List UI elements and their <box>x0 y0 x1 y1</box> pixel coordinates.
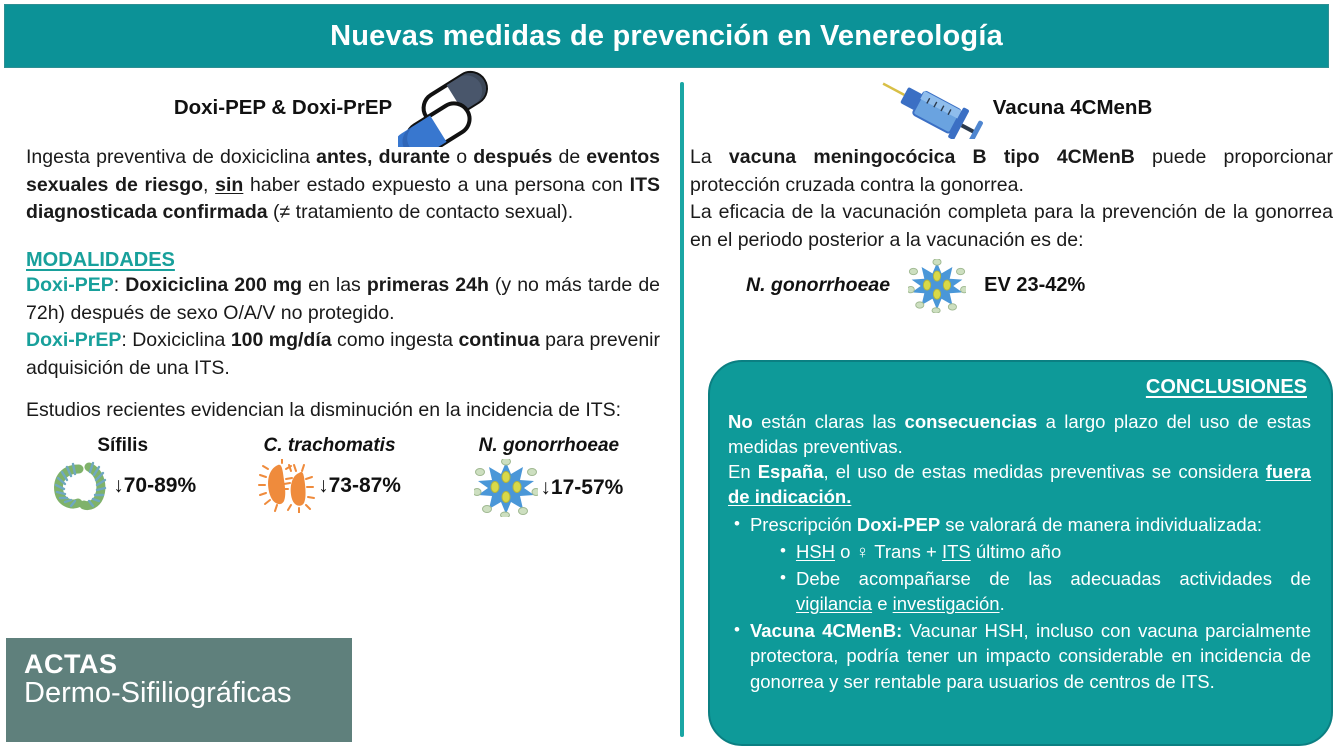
left-section-header: Doxi-PEP & Doxi-PrEP <box>0 72 676 144</box>
page-title: Nuevas medidas de prevención en Venereol… <box>330 20 1003 53</box>
pathogen-name: N. gonorrhoeae <box>479 435 619 457</box>
capsule-pills-icon <box>398 69 502 147</box>
left-section-title: Doxi-PEP & Doxi-PrEP <box>174 96 392 120</box>
right-column: Vacuna 4CMenB La vacuna meningocócica B … <box>690 72 1333 750</box>
pathogen-value: ↓17-57% <box>540 476 623 500</box>
right-section-header: Vacuna 4CMenB <box>690 72 1333 144</box>
right-body: La vacuna meningocócica B tipo 4CMenB pu… <box>690 144 1333 255</box>
syringe-icon <box>871 77 987 139</box>
pathogen-value: ↓73-87% <box>318 474 401 498</box>
pathogen-stats-row: Sífilis <box>0 425 676 517</box>
list-item: • Prescripción Doxi-PEP se valorará de m… <box>728 512 1311 537</box>
list-item: • Vacuna 4CMenB: Vacunar HSH, incluso co… <box>728 618 1311 693</box>
gonococcus-blue-icon <box>908 259 966 313</box>
list-item-text: Prescripción Doxi-PEP se valorará de man… <box>750 512 1311 537</box>
list-item-text: Vacuna 4CMenB: Vacunar HSH, incluso con … <box>750 618 1311 693</box>
bacteria-orange-icon <box>258 459 316 513</box>
right-section-title: Vacuna 4CMenB <box>993 96 1153 120</box>
bullet-marker: • <box>780 566 786 616</box>
vaccine-paragraph-1: La vacuna meningocócica B tipo 4CMenB pu… <box>690 144 1333 199</box>
conclusions-box: CONCLUSIONES No están claras las consecu… <box>708 360 1333 746</box>
pathogen-name: Sífilis <box>97 435 148 457</box>
bullet-marker: • <box>780 539 786 564</box>
doxi-pep-paragraph: Doxi-PEP: Doxiciclina 200 mg en las prim… <box>26 272 660 327</box>
list-item: • HSH o ♀ Trans + ITS último año <box>728 539 1311 564</box>
list-item-text: HSH o ♀ Trans + ITS último año <box>796 539 1311 564</box>
modalidades-heading: MODALIDADES <box>26 249 660 272</box>
studies-paragraph: Estudios recientes evidencian la disminu… <box>26 397 660 425</box>
pathogen-name: C. trachomatis <box>264 435 396 457</box>
ev-value: EV 23-42% <box>984 274 1085 297</box>
journal-logo-line1: ACTAS <box>24 650 352 678</box>
gonococcus-blue-icon <box>474 459 538 517</box>
list-item: • Debe acompañarse de las adecuadas acti… <box>728 566 1311 616</box>
vaccine-paragraph-2: La eficacia de la vacunación completa pa… <box>690 199 1333 254</box>
intro-paragraph: Ingesta preventiva de doxiciclina antes,… <box>26 144 660 227</box>
journal-logo: ACTAS Dermo-Sifiliográficas <box>6 638 352 742</box>
slide-root: Nuevas medidas de prevención en Venereol… <box>0 0 1333 750</box>
spirochete-green-icon <box>49 459 111 513</box>
conclusion-paragraph-1: No están claras las consecuencias a larg… <box>728 409 1311 459</box>
left-body: Ingesta preventiva de doxiciclina antes,… <box>0 144 676 425</box>
list-item-text: Debe acompañarse de las adecuadas activi… <box>796 566 1311 616</box>
column-divider <box>680 82 684 737</box>
pathogen-value: ↓70-89% <box>113 474 196 498</box>
doxi-prep-paragraph: Doxi-PrEP: Doxiciclina 100 mg/día como i… <box>26 327 660 382</box>
pathogen-item-n-gonorrhoeae: N. gonorrhoeae <box>432 435 666 517</box>
ev-pathogen-name: N. gonorrhoeae <box>746 274 890 297</box>
pathogen-item-sifilis: Sífilis <box>18 435 227 517</box>
ev-row: N. gonorrhoeae <box>690 255 1333 313</box>
conclusions-title: CONCLUSIONES <box>728 376 1311 399</box>
pathogen-item-c-trachomatis: C. trachomatis <box>227 435 431 517</box>
slide-title-banner: Nuevas medidas de prevención en Venereol… <box>4 4 1329 68</box>
journal-logo-line2: Dermo-Sifiliográficas <box>24 678 352 710</box>
bullet-marker: • <box>734 512 740 537</box>
bullet-marker: • <box>734 618 740 693</box>
conclusion-paragraph-2: En España, el uso de estas medidas preve… <box>728 459 1311 509</box>
